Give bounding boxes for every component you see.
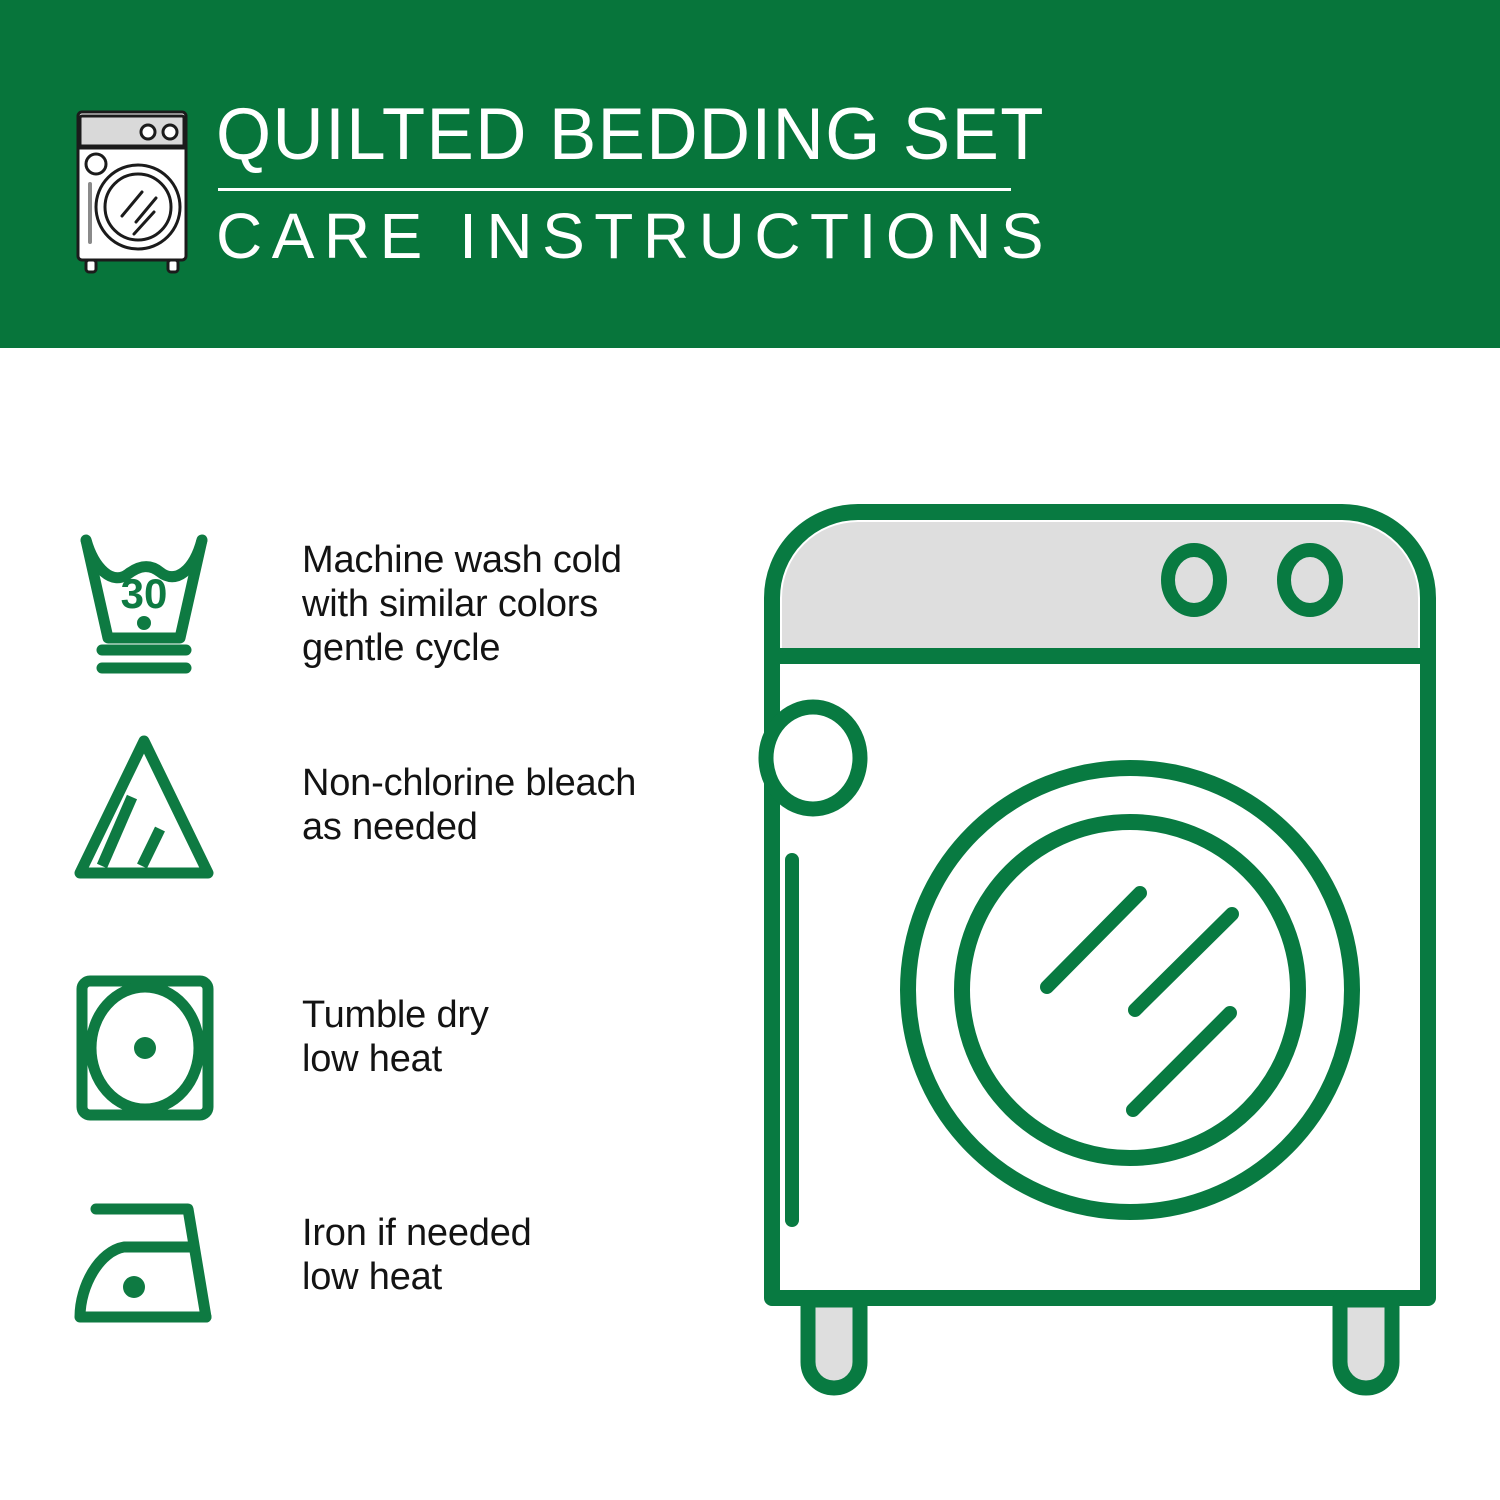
care-item-label: Iron if needed low heat — [232, 1193, 532, 1299]
care-instruction-list: 30 Machine wash cold with similar colors… — [0, 348, 720, 1500]
machine-leg-left — [808, 1300, 860, 1388]
care-item-label: Tumble dry low heat — [232, 973, 489, 1081]
front-load-washing-machine-illustration — [740, 480, 1460, 1420]
iron-low-heat-icon — [72, 1193, 232, 1343]
header-band: QUILTED BEDDING SET CARE INSTRUCTIONS — [0, 0, 1500, 348]
header-text-block: QUILTED BEDDING SET CARE INSTRUCTIONS — [216, 96, 1016, 276]
wash-basin-30-gentle-icon: 30 — [72, 526, 232, 676]
page-title: QUILTED BEDDING SET — [216, 96, 992, 174]
tumble-dry-low-heat-icon — [72, 973, 232, 1123]
care-item-bleach: Non-chlorine bleach as needed — [72, 733, 692, 883]
care-item-iron: Iron if needed low heat — [72, 1193, 692, 1343]
control-knob-2 — [1284, 550, 1336, 610]
non-chlorine-bleach-triangle-icon — [72, 733, 232, 883]
control-knob-1 — [1168, 550, 1220, 610]
care-item-tumble-dry: Tumble dry low heat — [72, 973, 692, 1123]
care-item-wash: 30 Machine wash cold with similar colors… — [72, 526, 692, 676]
care-item-label: Machine wash cold with similar colors ge… — [232, 526, 622, 670]
title-divider — [218, 188, 1011, 191]
wash-temperature-value: 30 — [121, 570, 168, 617]
page-subtitle: CARE INSTRUCTIONS — [216, 202, 1016, 270]
care-instructions-page: QUILTED BEDDING SET CARE INSTRUCTIONS — [0, 0, 1500, 1500]
machine-leg-right — [1340, 1300, 1392, 1388]
detergent-dispenser — [766, 707, 860, 809]
washing-machine-icon — [62, 104, 202, 276]
care-item-label: Non-chlorine bleach as needed — [232, 733, 636, 849]
